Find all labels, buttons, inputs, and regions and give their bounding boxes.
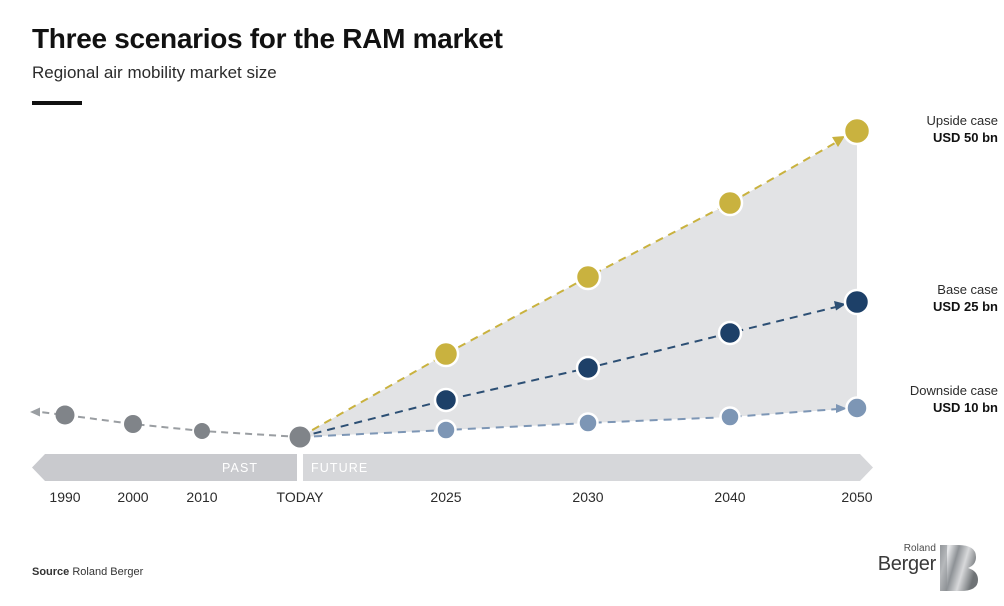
data-point-upside-2030 — [576, 265, 600, 289]
data-point-2000 — [124, 415, 142, 433]
data-point-upside-2040 — [718, 191, 742, 215]
legend-upside-case: Upside case USD 50 bn — [858, 112, 998, 146]
legend-base-value: USD 25 bn — [858, 298, 998, 315]
legend-downside-name: Downside case — [858, 382, 998, 399]
data-point-base-2040 — [719, 322, 741, 344]
data-point-2010 — [194, 423, 210, 439]
axis-tick-2030: 2030 — [543, 489, 633, 505]
legend-base-name: Base case — [858, 281, 998, 298]
legend-base-case: Base case USD 25 bn — [858, 281, 998, 315]
historical-series — [30, 406, 300, 440]
logo-wordmark: Roland Berger — [866, 543, 936, 575]
timeline-past-label: PAST — [222, 461, 258, 475]
source-value: Roland Berger — [72, 566, 143, 578]
chart-page: Three scenarios for the RAM market Regio… — [0, 0, 1004, 606]
axis-tick-2040: 2040 — [685, 489, 775, 505]
axis-tick-2010: 2010 — [157, 489, 247, 505]
logo-berger-text: Berger — [866, 554, 936, 575]
source-label: Source — [32, 566, 69, 578]
scenario-chart — [0, 0, 1004, 606]
data-point-downside-2025 — [437, 421, 456, 440]
timeline-future-segment — [303, 454, 873, 481]
data-point-base-2030 — [577, 357, 599, 379]
roland-berger-logo: Roland Berger — [872, 543, 976, 589]
timeline-bar — [32, 454, 873, 481]
data-point-downside-2030 — [579, 414, 598, 433]
data-point-upside-2025 — [434, 342, 458, 366]
timeline-future-label: FUTURE — [311, 461, 368, 475]
legend-upside-value: USD 50 bn — [858, 129, 998, 146]
axis-tick-2025: 2025 — [401, 489, 491, 505]
source-note: Source Roland Berger — [32, 566, 143, 578]
axis-tick-today: TODAY — [255, 489, 345, 505]
data-point-downside-2040 — [721, 408, 740, 427]
historical-line — [40, 412, 300, 437]
historical-left-arrow-icon — [30, 408, 40, 417]
legend-downside-value: USD 10 bn — [858, 399, 998, 416]
legend-downside-case: Downside case USD 10 bn — [858, 382, 998, 416]
data-point-base-2025 — [435, 389, 457, 411]
legend-upside-name: Upside case — [858, 112, 998, 129]
axis-tick-2050: 2050 — [812, 489, 902, 505]
data-point-1990 — [56, 406, 75, 425]
data-point-today — [290, 427, 311, 448]
